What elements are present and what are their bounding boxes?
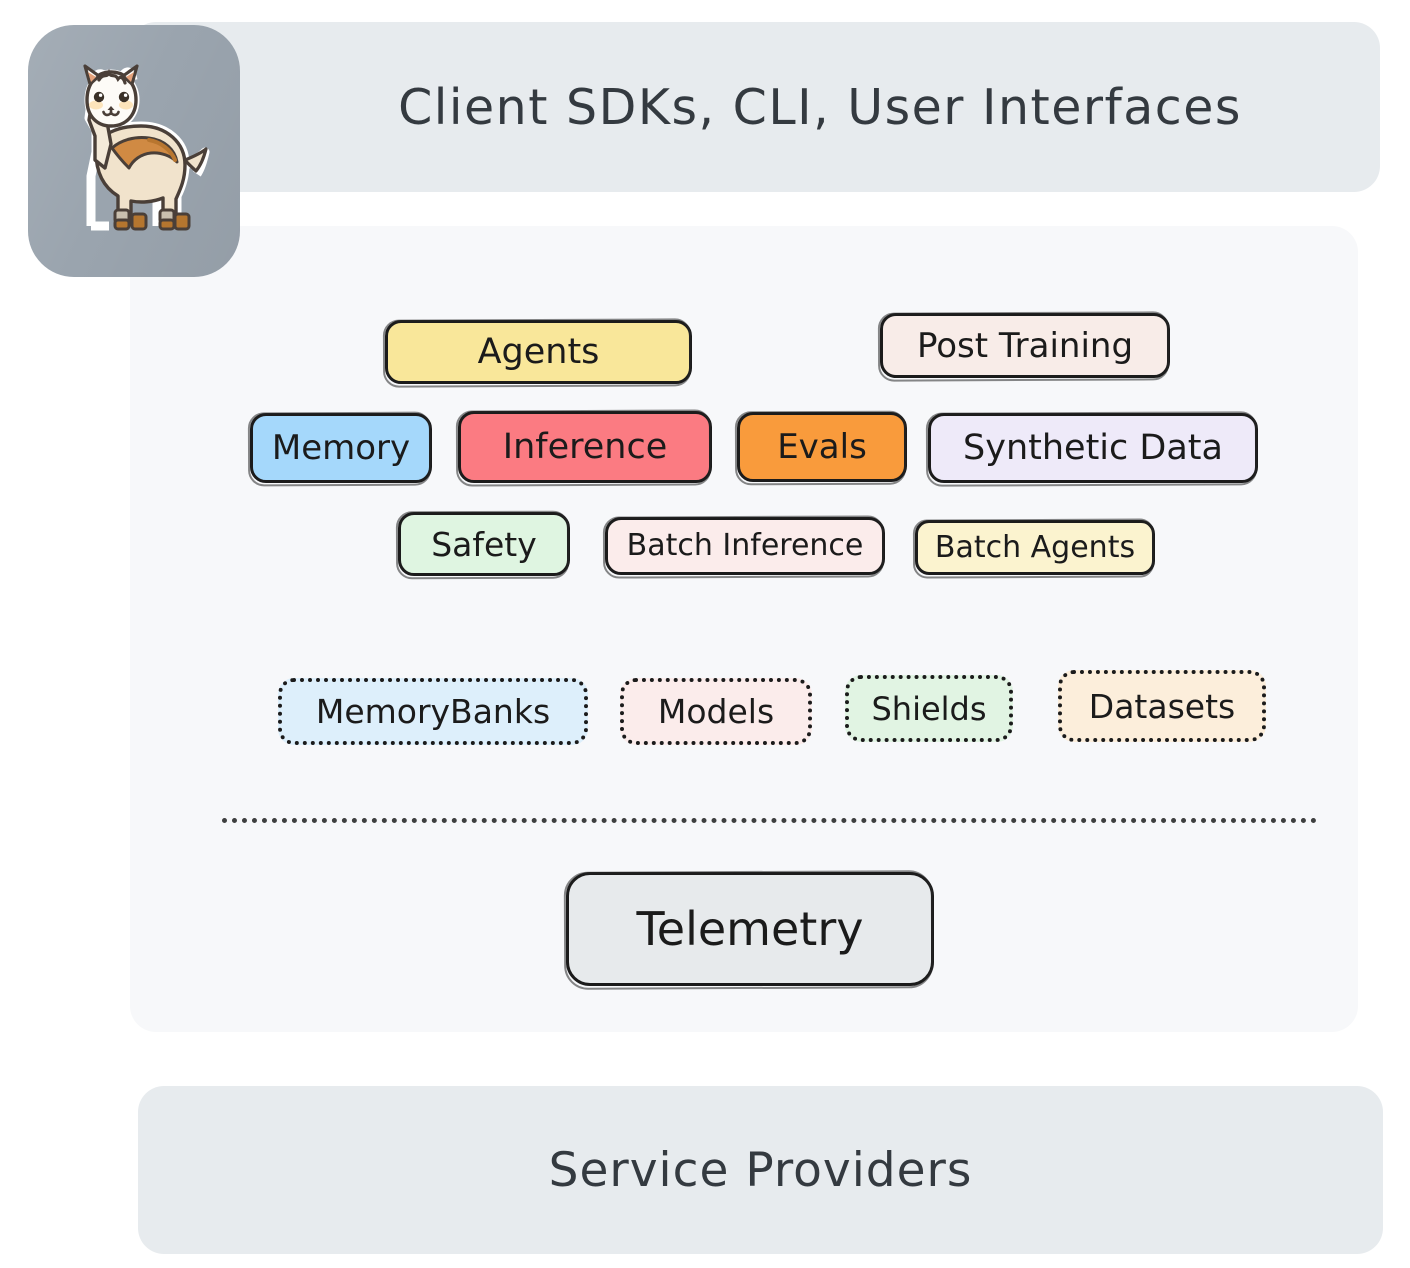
api-box-label: Memory — [272, 431, 410, 465]
resource-box-memorybanks[interactable]: MemoryBanks — [278, 678, 588, 745]
llama-logo-tile — [28, 25, 240, 277]
api-box-memory[interactable]: Memory — [250, 413, 432, 483]
resource-box-models[interactable]: Models — [620, 678, 812, 745]
resource-box-label: Shields — [871, 693, 986, 725]
api-box-synthetic-data[interactable]: Synthetic Data — [928, 413, 1258, 483]
api-box-label: Agents — [478, 335, 600, 370]
api-box-label: Evals — [777, 430, 867, 464]
api-box-batch-agents[interactable]: Batch Agents — [915, 520, 1155, 575]
header-title: Client SDKs, CLI, User Interfaces — [130, 22, 1380, 192]
api-box-label: Batch Agents — [935, 533, 1135, 563]
diagram-canvas: Client SDKs, CLI, User Interfaces — [0, 0, 1410, 1268]
api-box-inference[interactable]: Inference — [458, 411, 712, 483]
api-box-label: Safety — [431, 528, 537, 561]
section-divider — [222, 818, 1317, 823]
api-box-post-training[interactable]: Post Training — [880, 313, 1170, 378]
api-box-label: Inference — [503, 430, 667, 465]
telemetry-label: Telemetry — [637, 906, 864, 952]
api-box-safety[interactable]: Safety — [398, 512, 570, 576]
footer-title: Service Providers — [138, 1086, 1383, 1254]
api-box-evals[interactable]: Evals — [737, 412, 907, 482]
api-box-label: Post Training — [917, 329, 1133, 363]
api-box-label: Synthetic Data — [963, 431, 1223, 466]
api-box-batch-inference[interactable]: Batch Inference — [605, 517, 885, 575]
resource-box-label: MemoryBanks — [316, 695, 550, 728]
telemetry-box[interactable]: Telemetry — [566, 872, 934, 986]
resource-box-label: Datasets — [1089, 690, 1235, 723]
resource-box-datasets[interactable]: Datasets — [1058, 670, 1266, 742]
llama-logo-icon — [49, 56, 219, 246]
resource-box-shields[interactable]: Shields — [845, 675, 1013, 742]
api-box-label: Batch Inference — [627, 531, 864, 561]
api-box-agents[interactable]: Agents — [385, 320, 692, 384]
resource-box-label: Models — [658, 695, 774, 728]
